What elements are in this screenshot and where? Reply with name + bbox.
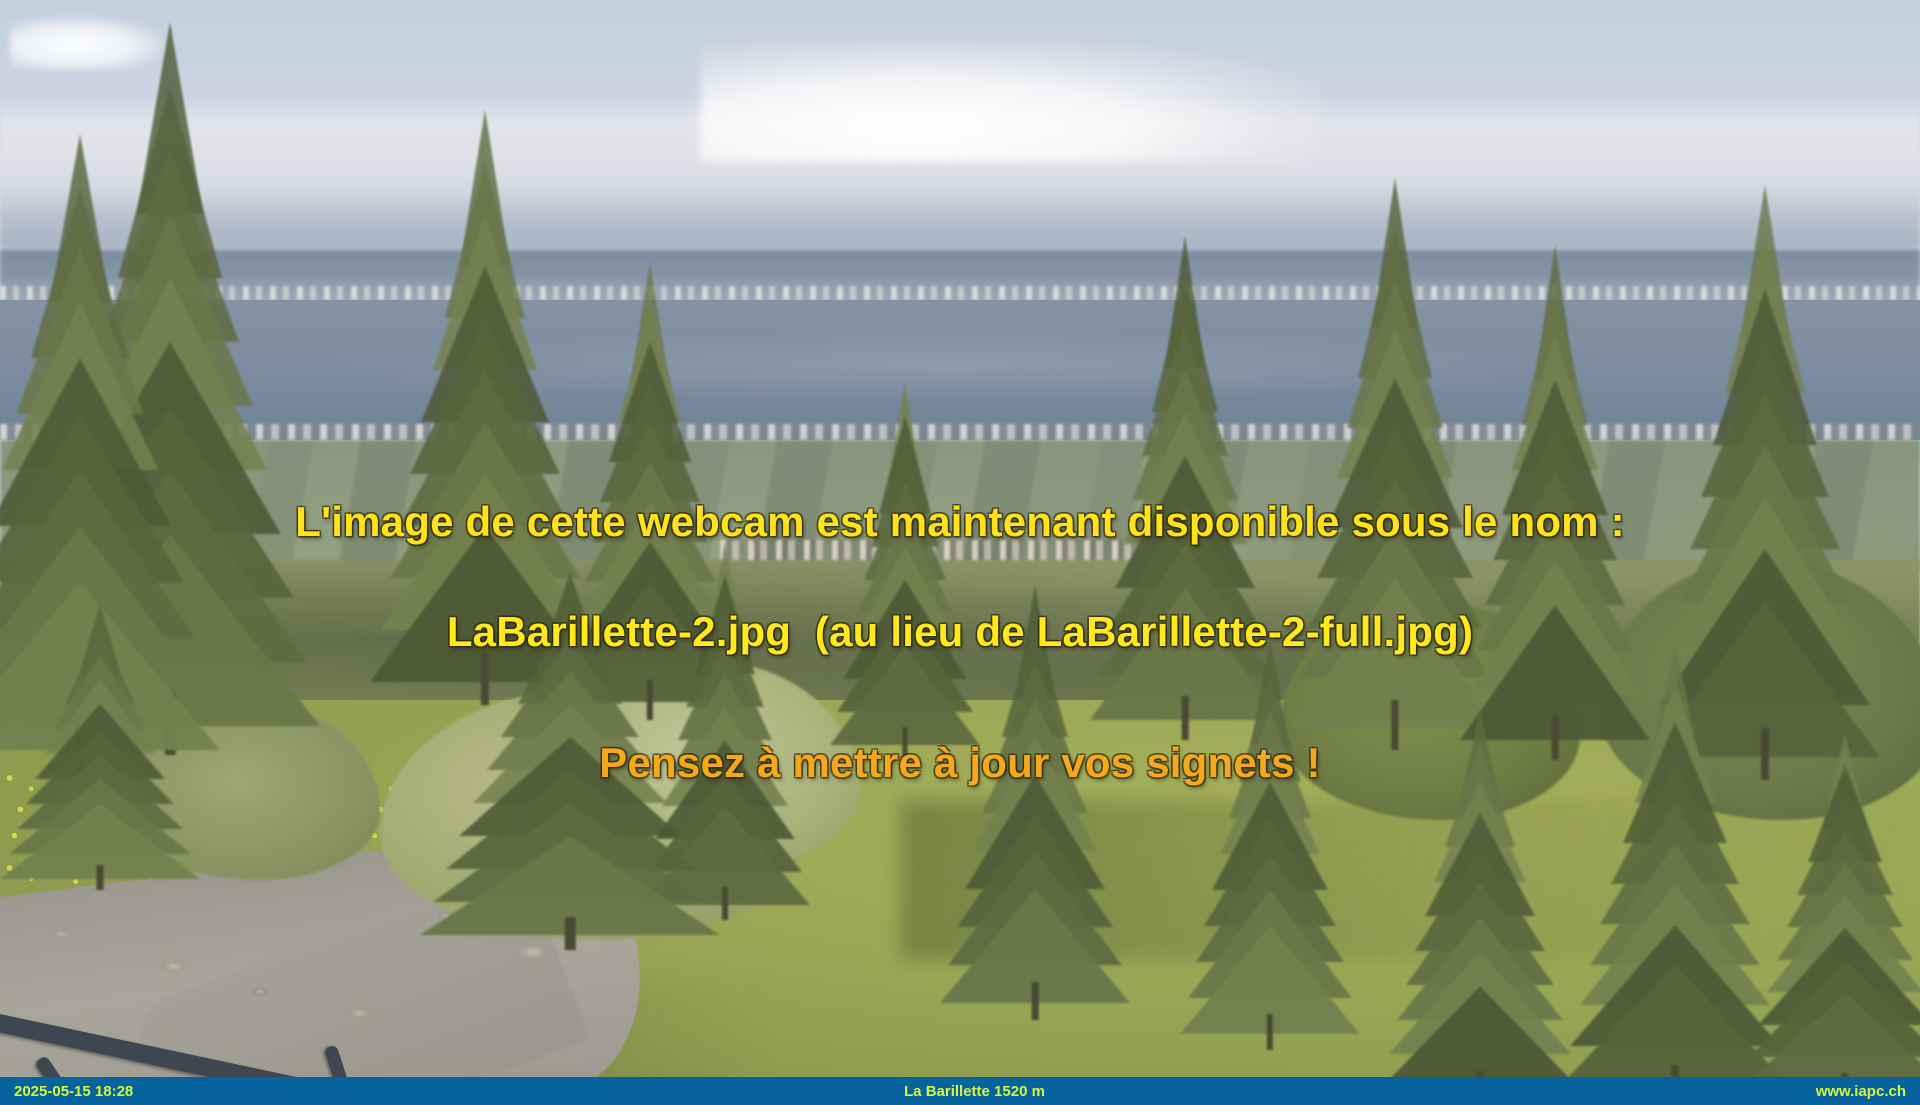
conifer-tree <box>1380 760 1580 1105</box>
timestamp-label: 2025-05-15 18:28 <box>0 1083 133 1100</box>
conifer-tree <box>940 640 1130 1020</box>
location-label: La Barillette 1520 m <box>133 1083 1815 1100</box>
overlay-message-line-2: LaBarillette-2.jpg (au lieu de LaBarille… <box>0 608 1920 656</box>
overlay-message-line-1: L'image de cette webcam est maintenant d… <box>0 498 1920 546</box>
webcam-scene <box>0 0 1920 1105</box>
overlay-message-line-3: Pensez à mettre à jour vos signets ! <box>0 739 1920 787</box>
webcam-image: L'image de cette webcam est maintenant d… <box>0 0 1920 1105</box>
cloud-large <box>700 42 1320 162</box>
website-link[interactable]: www.iapc.ch <box>1816 1083 1920 1100</box>
status-bar: 2025-05-15 18:28 La Barillette 1520 m ww… <box>0 1077 1920 1105</box>
conifer-tree <box>1740 780 1920 1105</box>
